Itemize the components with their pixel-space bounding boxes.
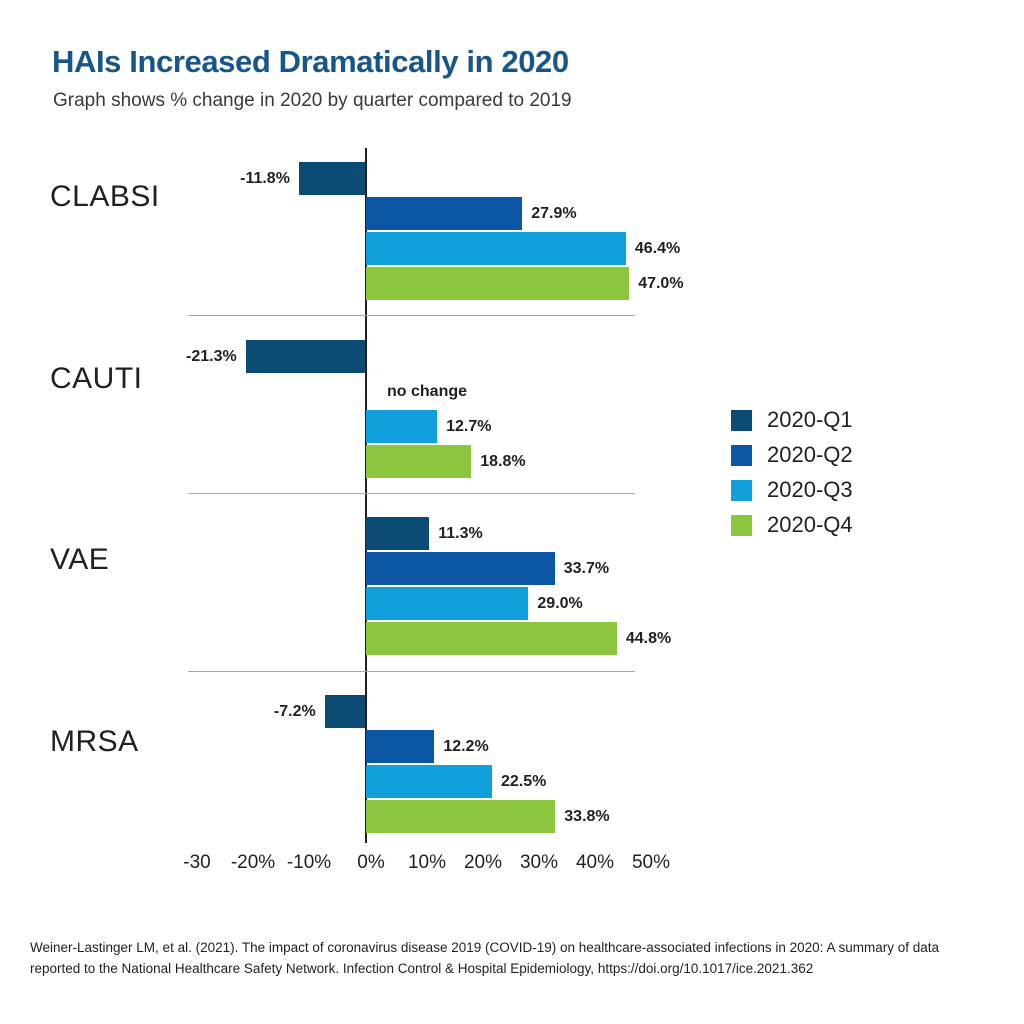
- legend-item-2020-q4[interactable]: 2020-Q4: [731, 513, 853, 537]
- group-separator-3: [188, 671, 635, 672]
- bar-value-cauti-2020-q2: no change: [387, 375, 467, 408]
- chart-page: HAIs Increased Dramatically in 2020 Grap…: [0, 0, 1024, 1024]
- bar-mrsa-2020-q4: [366, 800, 555, 833]
- bar-cauti-2020-q3: [366, 410, 437, 443]
- bar-value-cauti-2020-q3: 12.7%: [446, 410, 491, 443]
- bar-value-cauti-2020-q4: 18.8%: [480, 445, 525, 478]
- legend-label: 2020-Q2: [767, 442, 853, 468]
- bar-clabsi-2020-q1: [299, 162, 365, 195]
- x-axis-tick-neg10: -10%: [287, 852, 331, 874]
- legend-item-2020-q2[interactable]: 2020-Q2: [731, 443, 853, 467]
- bar-mrsa-2020-q2: [366, 730, 434, 763]
- bar-value-vae-2020-q2: 33.7%: [564, 552, 609, 585]
- group-separator-2: [188, 493, 635, 494]
- x-axis-tick-10: 10%: [408, 852, 446, 874]
- bar-clabsi-2020-q4: [366, 267, 629, 300]
- bar-value-vae-2020-q3: 29.0%: [537, 587, 582, 620]
- bar-value-mrsa-2020-q4: 33.8%: [564, 800, 609, 833]
- legend-swatch-icon-2020-q1: [731, 410, 752, 431]
- bar-value-clabsi-2020-q4: 47.0%: [638, 267, 683, 300]
- bar-value-vae-2020-q1: 11.3%: [438, 517, 482, 550]
- category-label-mrsa: MRSA: [50, 725, 200, 759]
- category-label-clabsi: CLABSI: [50, 180, 200, 214]
- legend-item-2020-q1[interactable]: 2020-Q1: [731, 408, 853, 432]
- bar-vae-2020-q1: [366, 517, 429, 550]
- legend-item-2020-q3[interactable]: 2020-Q3: [731, 478, 853, 502]
- category-label-cauti: CAUTI: [50, 362, 200, 396]
- bar-vae-2020-q4: [366, 622, 617, 655]
- legend-swatch-icon-2020-q4: [731, 515, 752, 536]
- bar-chart: CLABSI-11.8%27.9%46.4%47.0%CAUTI-21.3%no…: [0, 0, 1024, 1024]
- bar-value-clabsi-2020-q3: 46.4%: [635, 232, 680, 265]
- bar-value-vae-2020-q4: 44.8%: [626, 622, 671, 655]
- group-separator-1: [188, 315, 635, 316]
- bar-mrsa-2020-q1: [325, 695, 365, 728]
- citation-footnote: Weiner-Lastinger LM, et al. (2021). The …: [30, 938, 990, 980]
- legend-swatch-icon-2020-q3: [731, 480, 752, 501]
- bar-cauti-2020-q4: [366, 445, 471, 478]
- bar-value-mrsa-2020-q1: -7.2%: [274, 695, 316, 728]
- x-axis-tick-40: 40%: [576, 852, 614, 874]
- x-axis-tick-20: 20%: [464, 852, 502, 874]
- bar-mrsa-2020-q3: [366, 765, 492, 798]
- bar-vae-2020-q3: [366, 587, 528, 620]
- x-axis-tick-neg30: -30: [183, 852, 210, 874]
- citation-line-3: https://doi.org/10.1017/ice.2021.362: [598, 961, 813, 976]
- x-axis-tick-50: 50%: [632, 852, 670, 874]
- bar-value-clabsi-2020-q2: 27.9%: [531, 197, 576, 230]
- bar-cauti-2020-q1: [246, 340, 365, 373]
- bar-vae-2020-q2: [366, 552, 555, 585]
- citation-line-1: Weiner-Lastinger LM, et al. (2021). The …: [30, 940, 786, 955]
- legend-label: 2020-Q4: [767, 512, 853, 538]
- bar-clabsi-2020-q2: [366, 197, 522, 230]
- category-label-vae: VAE: [50, 543, 200, 577]
- bar-value-mrsa-2020-q3: 22.5%: [501, 765, 546, 798]
- bar-value-cauti-2020-q1: -21.3%: [186, 340, 237, 373]
- x-axis-tick-30: 30%: [520, 852, 558, 874]
- bar-value-mrsa-2020-q2: 12.2%: [443, 730, 488, 763]
- x-axis-tick-neg20: -20%: [231, 852, 275, 874]
- bar-value-clabsi-2020-q1: -11.8%: [240, 162, 290, 195]
- legend-label: 2020-Q1: [767, 407, 853, 433]
- x-axis-tick-0: 0%: [357, 852, 384, 874]
- legend-swatch-icon-2020-q2: [731, 445, 752, 466]
- legend-label: 2020-Q3: [767, 477, 853, 503]
- bar-clabsi-2020-q3: [366, 232, 626, 265]
